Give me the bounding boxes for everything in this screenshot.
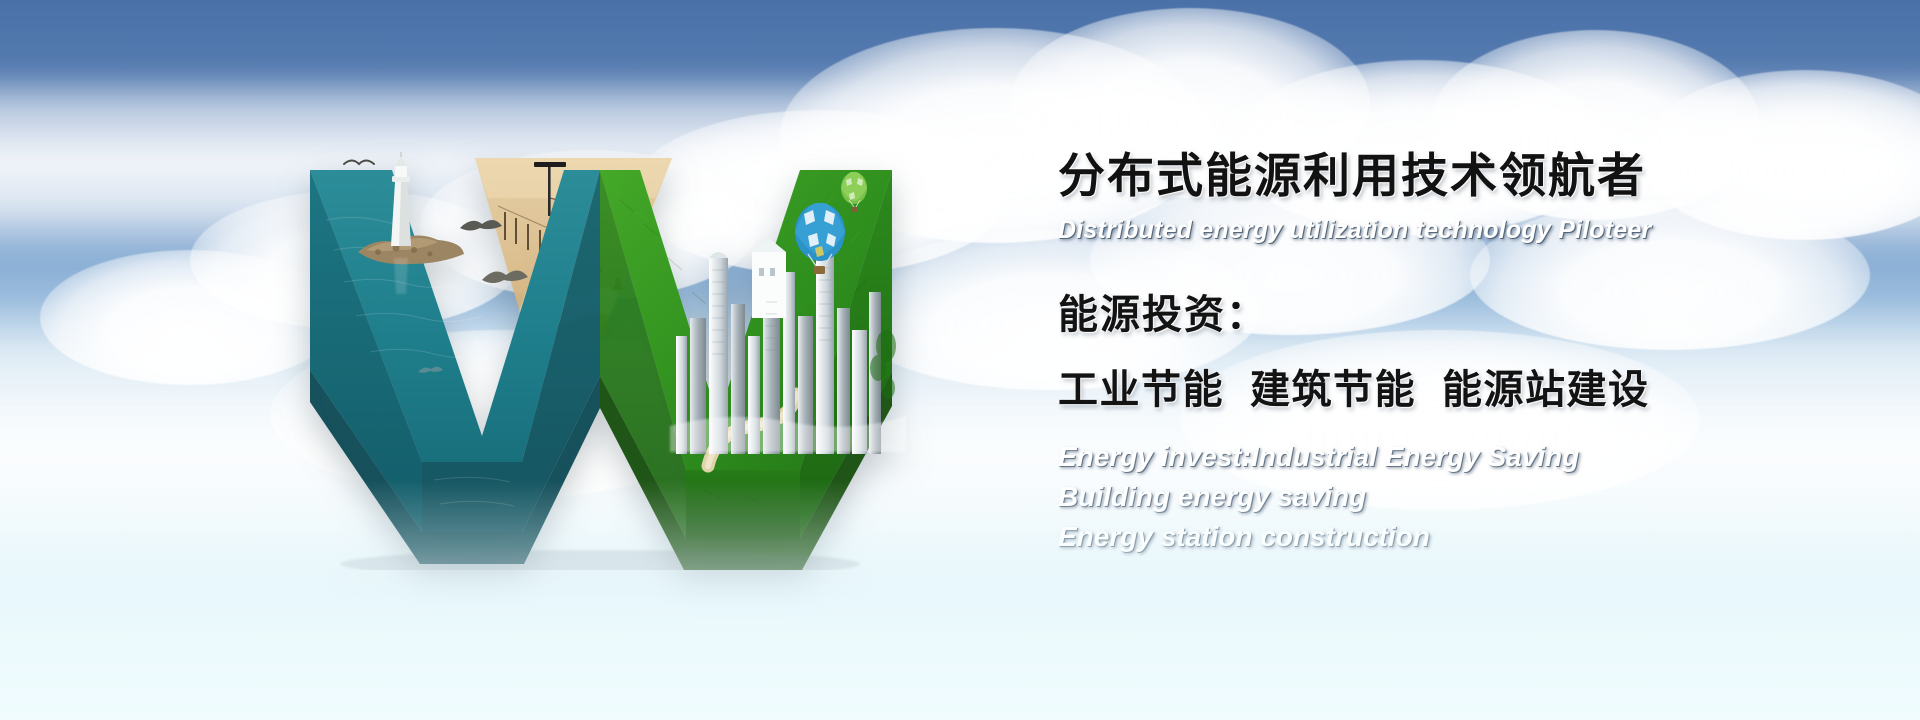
- page-subtitle: Distributed energy utilization technolog…: [1058, 216, 1848, 245]
- lighthouse-icon: [391, 152, 411, 246]
- english-detail-line: Building energy saving: [1058, 477, 1848, 517]
- lighthouse-reflection: [394, 258, 408, 294]
- green-city-right-stroke: [600, 170, 906, 570]
- banner-copy: 分布式能源利用技术领航者 Distributed energy utilizat…: [1058, 150, 1848, 557]
- service-item-industrial: 工业节能: [1058, 357, 1224, 415]
- english-details-list: Energy invest:Industrial Energy Saving B…: [1058, 437, 1848, 557]
- services-list: 工业节能 建筑节能 能源站建设: [1058, 357, 1848, 415]
- service-item-building: 建筑节能: [1250, 357, 1416, 415]
- services-lead-label: 能源投资：: [1058, 282, 1848, 340]
- hero-banner: 分布式能源利用技术领航者 Distributed energy utilizat…: [0, 0, 1920, 720]
- letter-w-landscape-illustration: [300, 140, 1000, 570]
- page-title: 分布式能源利用技术领航者: [1058, 150, 1848, 203]
- english-detail-line: Energy invest:Industrial Energy Saving: [1058, 437, 1848, 477]
- cloud-puff: [40, 250, 340, 385]
- english-detail-line: Energy station construction: [1058, 517, 1848, 557]
- ocean-left-stroke: [310, 152, 600, 564]
- service-item-station: 能源站建设: [1442, 357, 1650, 415]
- seagull-icon: [344, 161, 374, 165]
